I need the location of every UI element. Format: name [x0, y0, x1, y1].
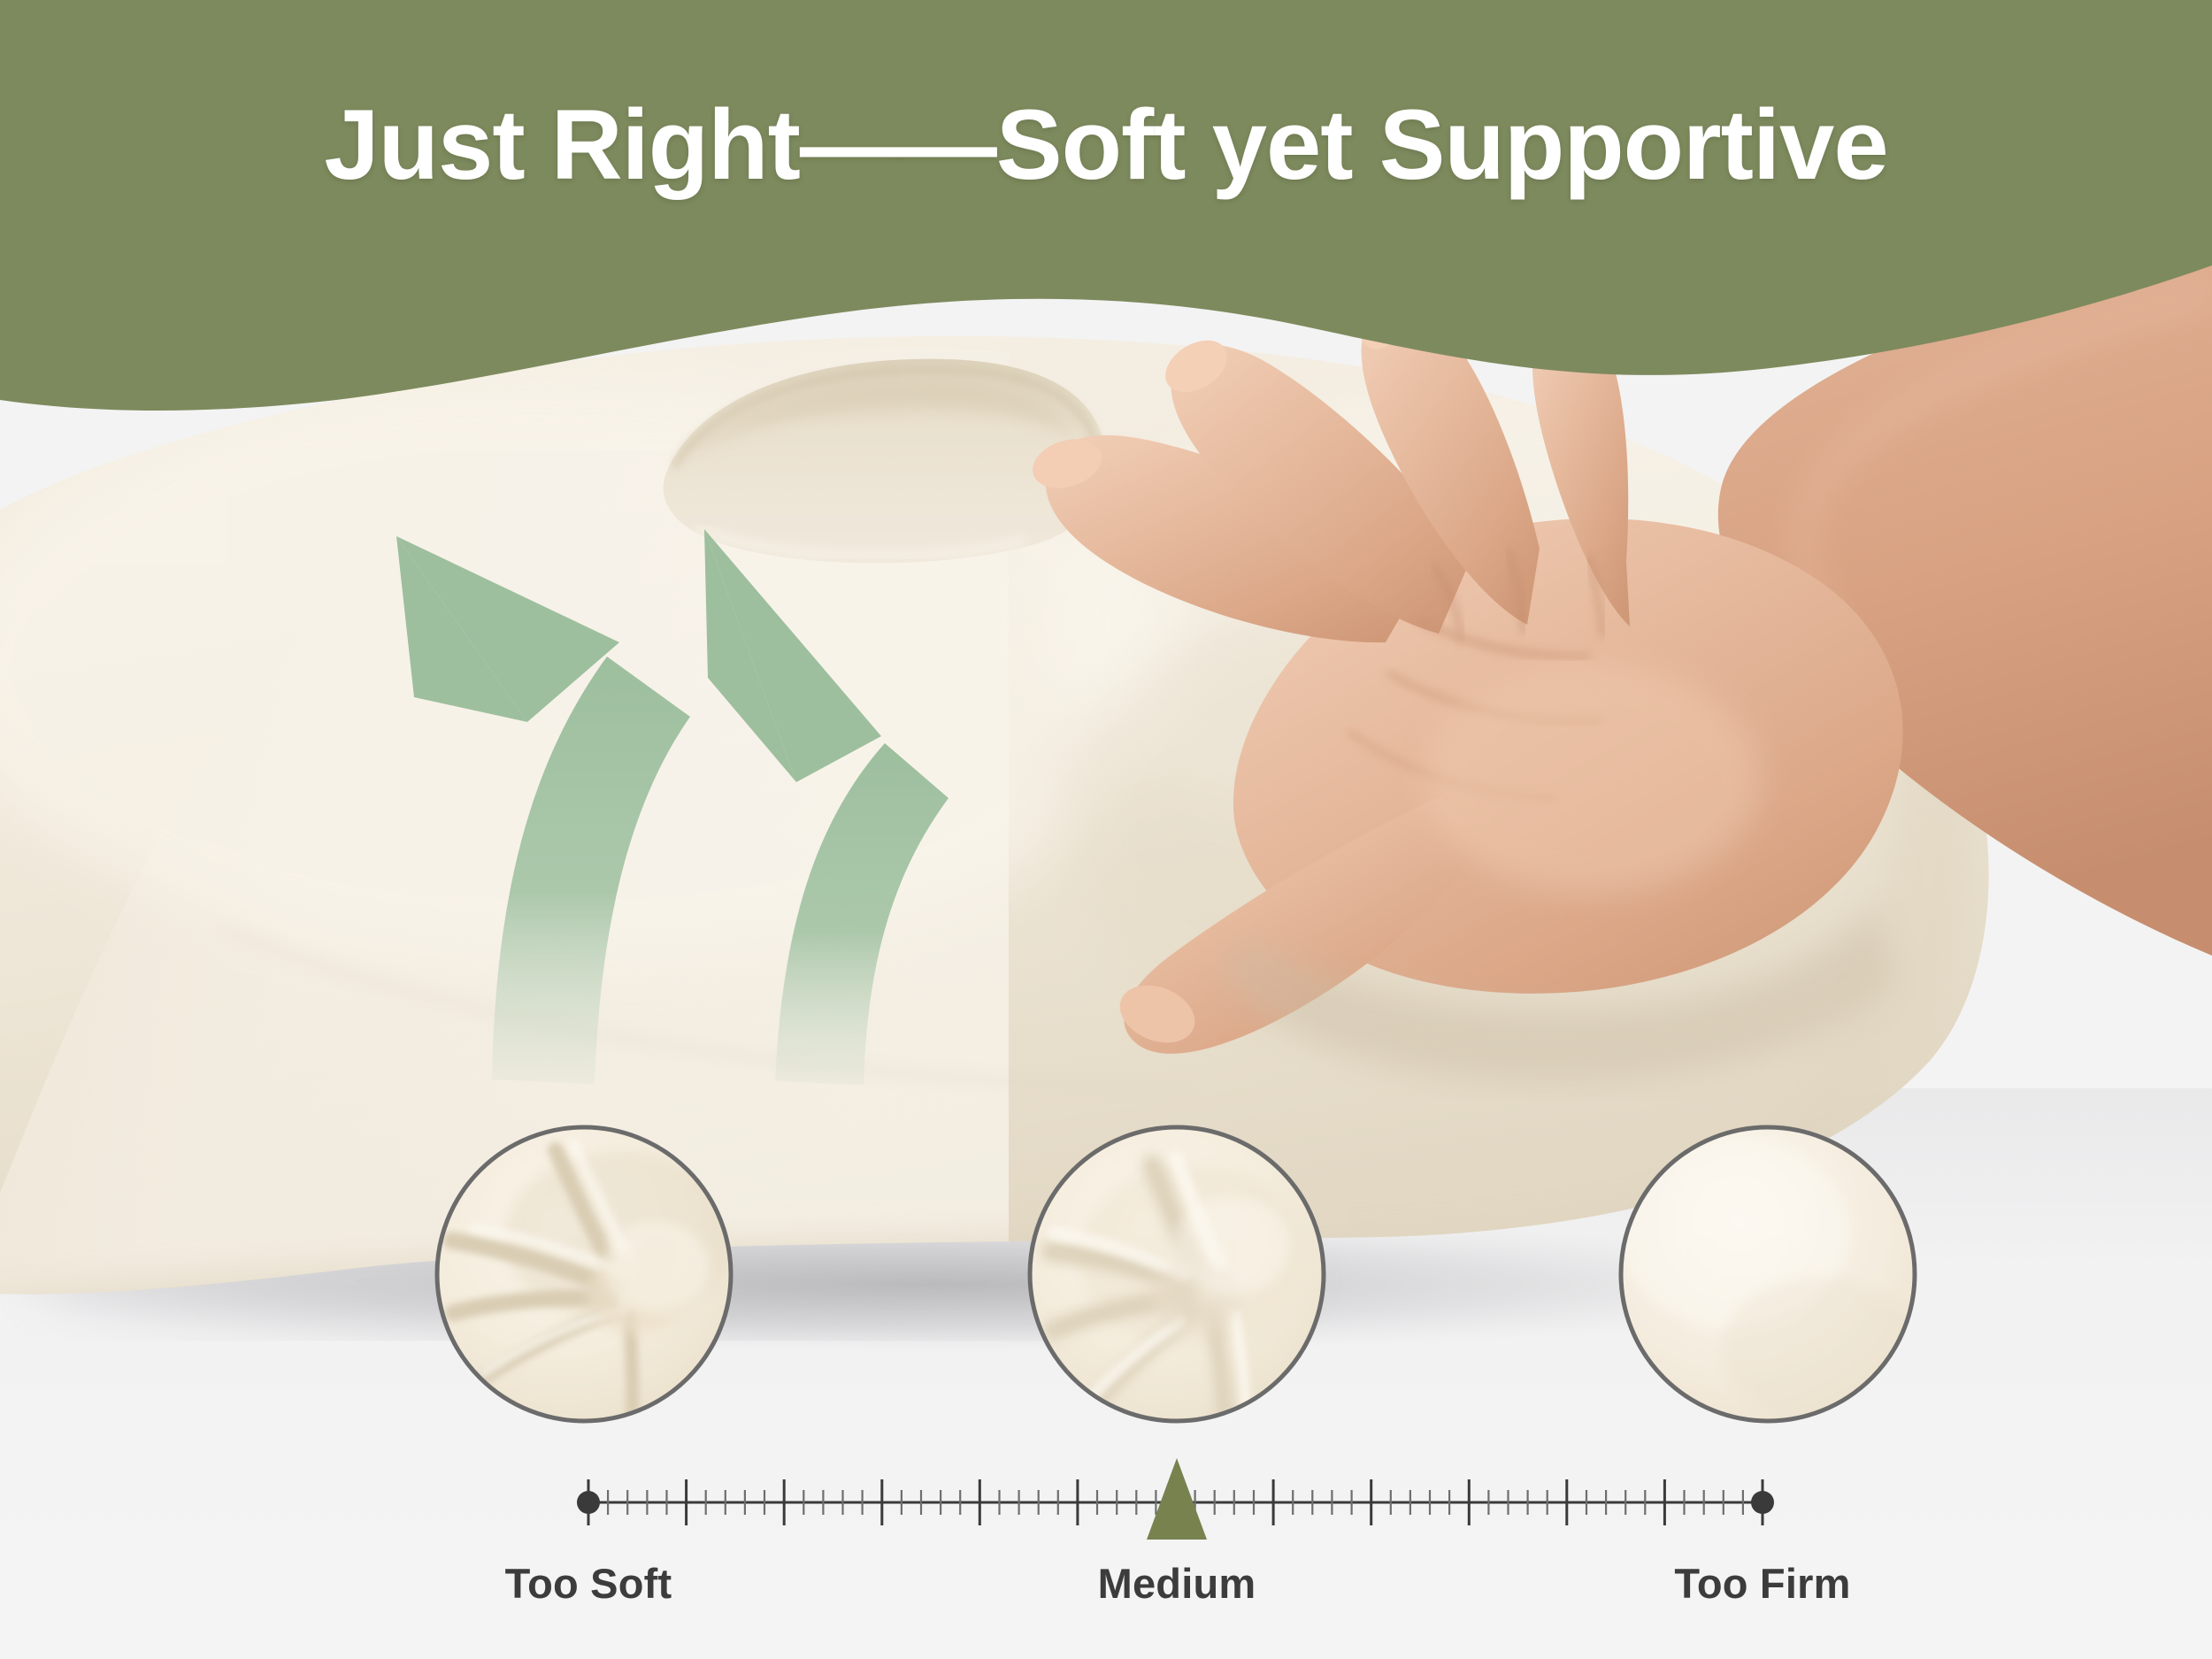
- firmness-scale[interactable]: Too Soft Medium Too Firm: [0, 1451, 2212, 1659]
- scale-start-dot: [577, 1491, 600, 1514]
- page-title: Just Right——Soft yet Supportive: [0, 92, 2212, 199]
- scale-label-too-firm: Too Firm: [1674, 1559, 1850, 1608]
- scale-labels: Too Soft Medium Too Firm: [0, 1559, 2212, 1639]
- product-marketing-image: Just Right——Soft yet Supportive: [0, 0, 2212, 1659]
- scale-end-dot: [1751, 1491, 1774, 1514]
- pillow-photo: [0, 0, 2212, 1659]
- scale-label-too-soft: Too Soft: [505, 1559, 672, 1608]
- scale-label-medium: Medium: [1098, 1559, 1256, 1608]
